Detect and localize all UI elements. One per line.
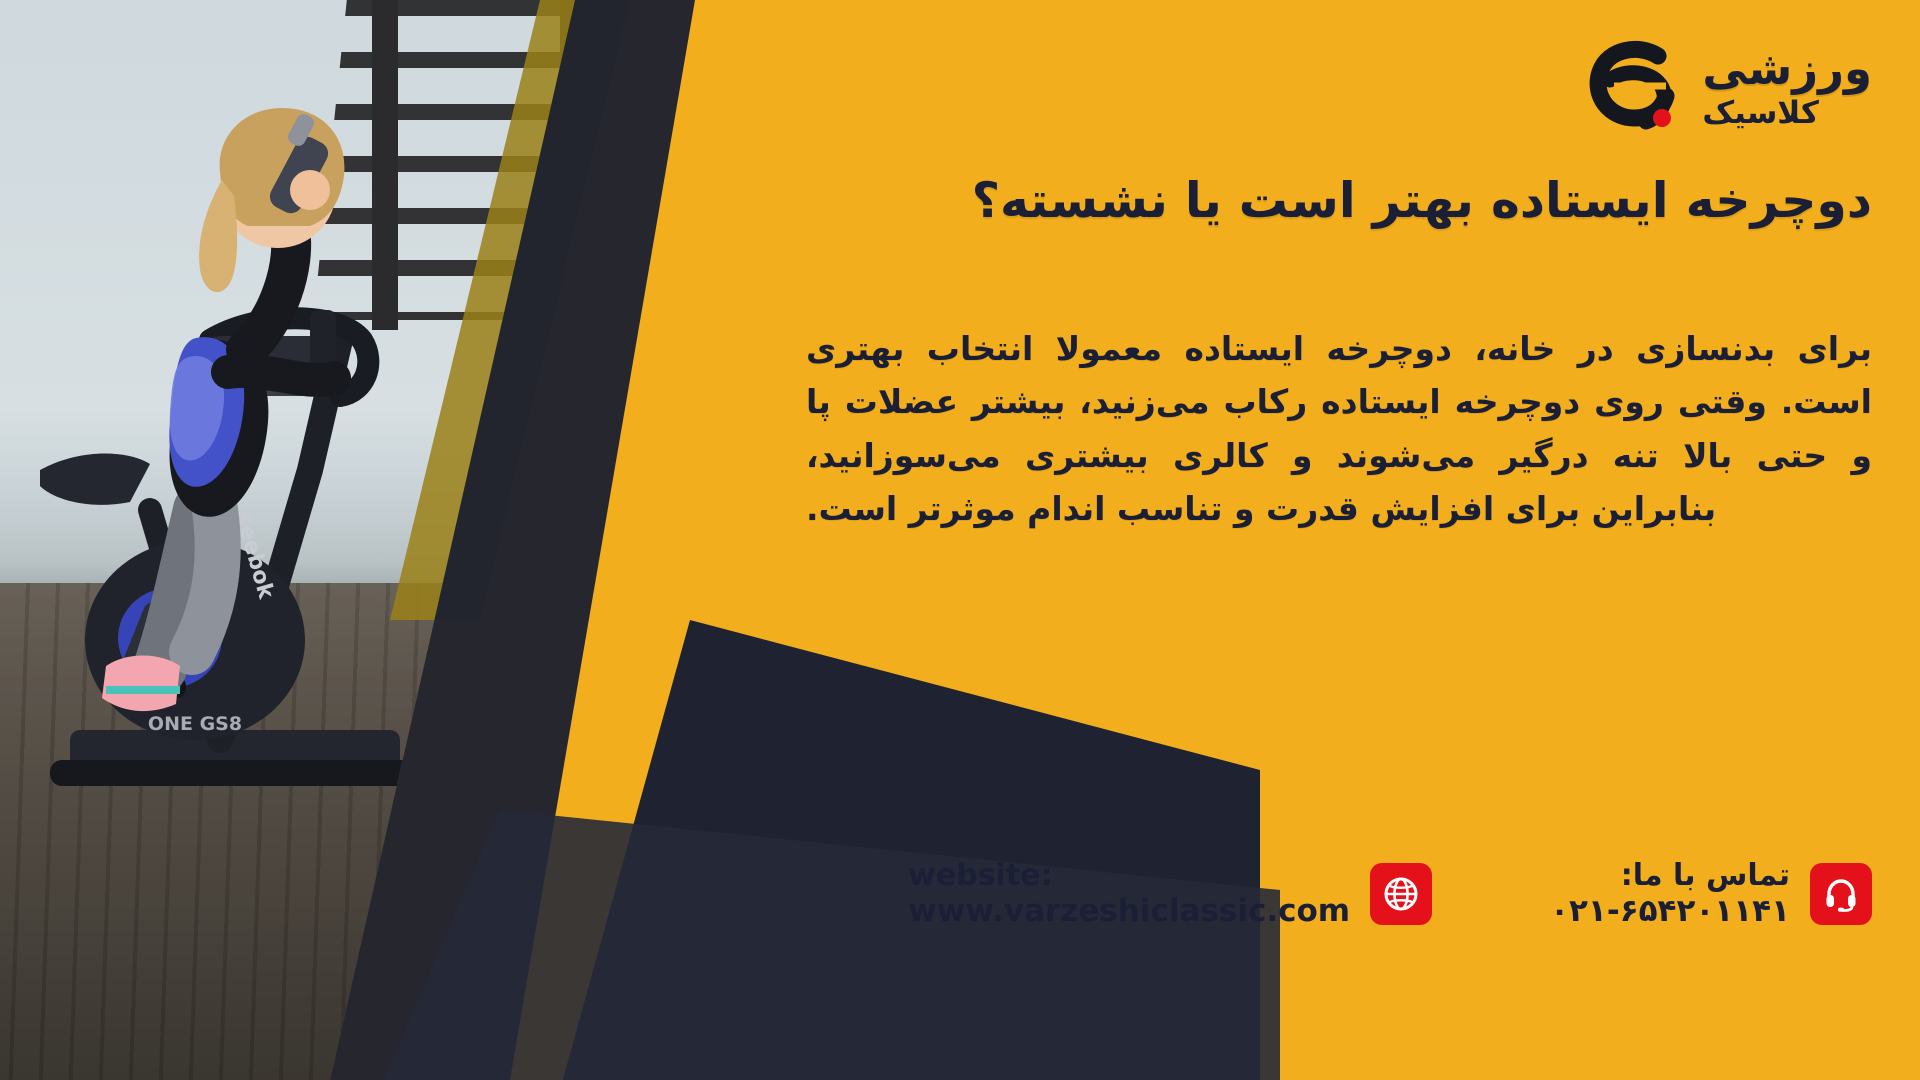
contact-phone-text: تماس با ما: ۰۲۱-۶۵۴۲۰۱۱۴۱ [1550, 858, 1790, 930]
contact-website-item[interactable]: website: www.varzeshiclassic.com [908, 858, 1432, 930]
contact-phone-label: تماس با ما: [1550, 858, 1790, 893]
brand-logo-line2: کلاسیک [1702, 98, 1818, 129]
globe-website-icon [1370, 863, 1432, 925]
contact-phone-item[interactable]: تماس با ما: ۰۲۱-۶۵۴۲۰۱۱۴۱ [1550, 858, 1872, 930]
svg-text:ONE GS8: ONE GS8 [148, 713, 242, 735]
contact-phone-value: ۰۲۱-۶۵۴۲۰۱۱۴۱ [1550, 893, 1790, 930]
headset-support-icon [1810, 863, 1872, 925]
page-title: دوچرخه ایستاده بهتر است یا نشسته؟ [772, 170, 1872, 231]
content-column: ورزشی کلاسیک دوچرخه ایستاده بهتر است یا … [720, 0, 1920, 1080]
footer-contact-strip: تماس با ما: ۰۲۱-۶۵۴۲۰۱۱۴۱ website: [908, 858, 1872, 930]
brand-logo-line1: ورزشی [1702, 46, 1872, 91]
logo-c-mark-icon [1580, 34, 1686, 140]
brand-logo[interactable]: ورزشی کلاسیک [1580, 34, 1872, 140]
contact-website-text: website: www.varzeshiclassic.com [908, 858, 1350, 930]
contact-website-label: website: [908, 858, 1350, 893]
poster-canvas: Reebok ONE GS8 [0, 0, 1920, 1080]
contact-website-value: www.varzeshiclassic.com [908, 893, 1350, 930]
body-paragraph: برای بدنسازی در خانه، دوچرخه ایستاده معم… [806, 322, 1872, 536]
brand-logo-wordmark: ورزشی کلاسیک [1702, 46, 1872, 129]
